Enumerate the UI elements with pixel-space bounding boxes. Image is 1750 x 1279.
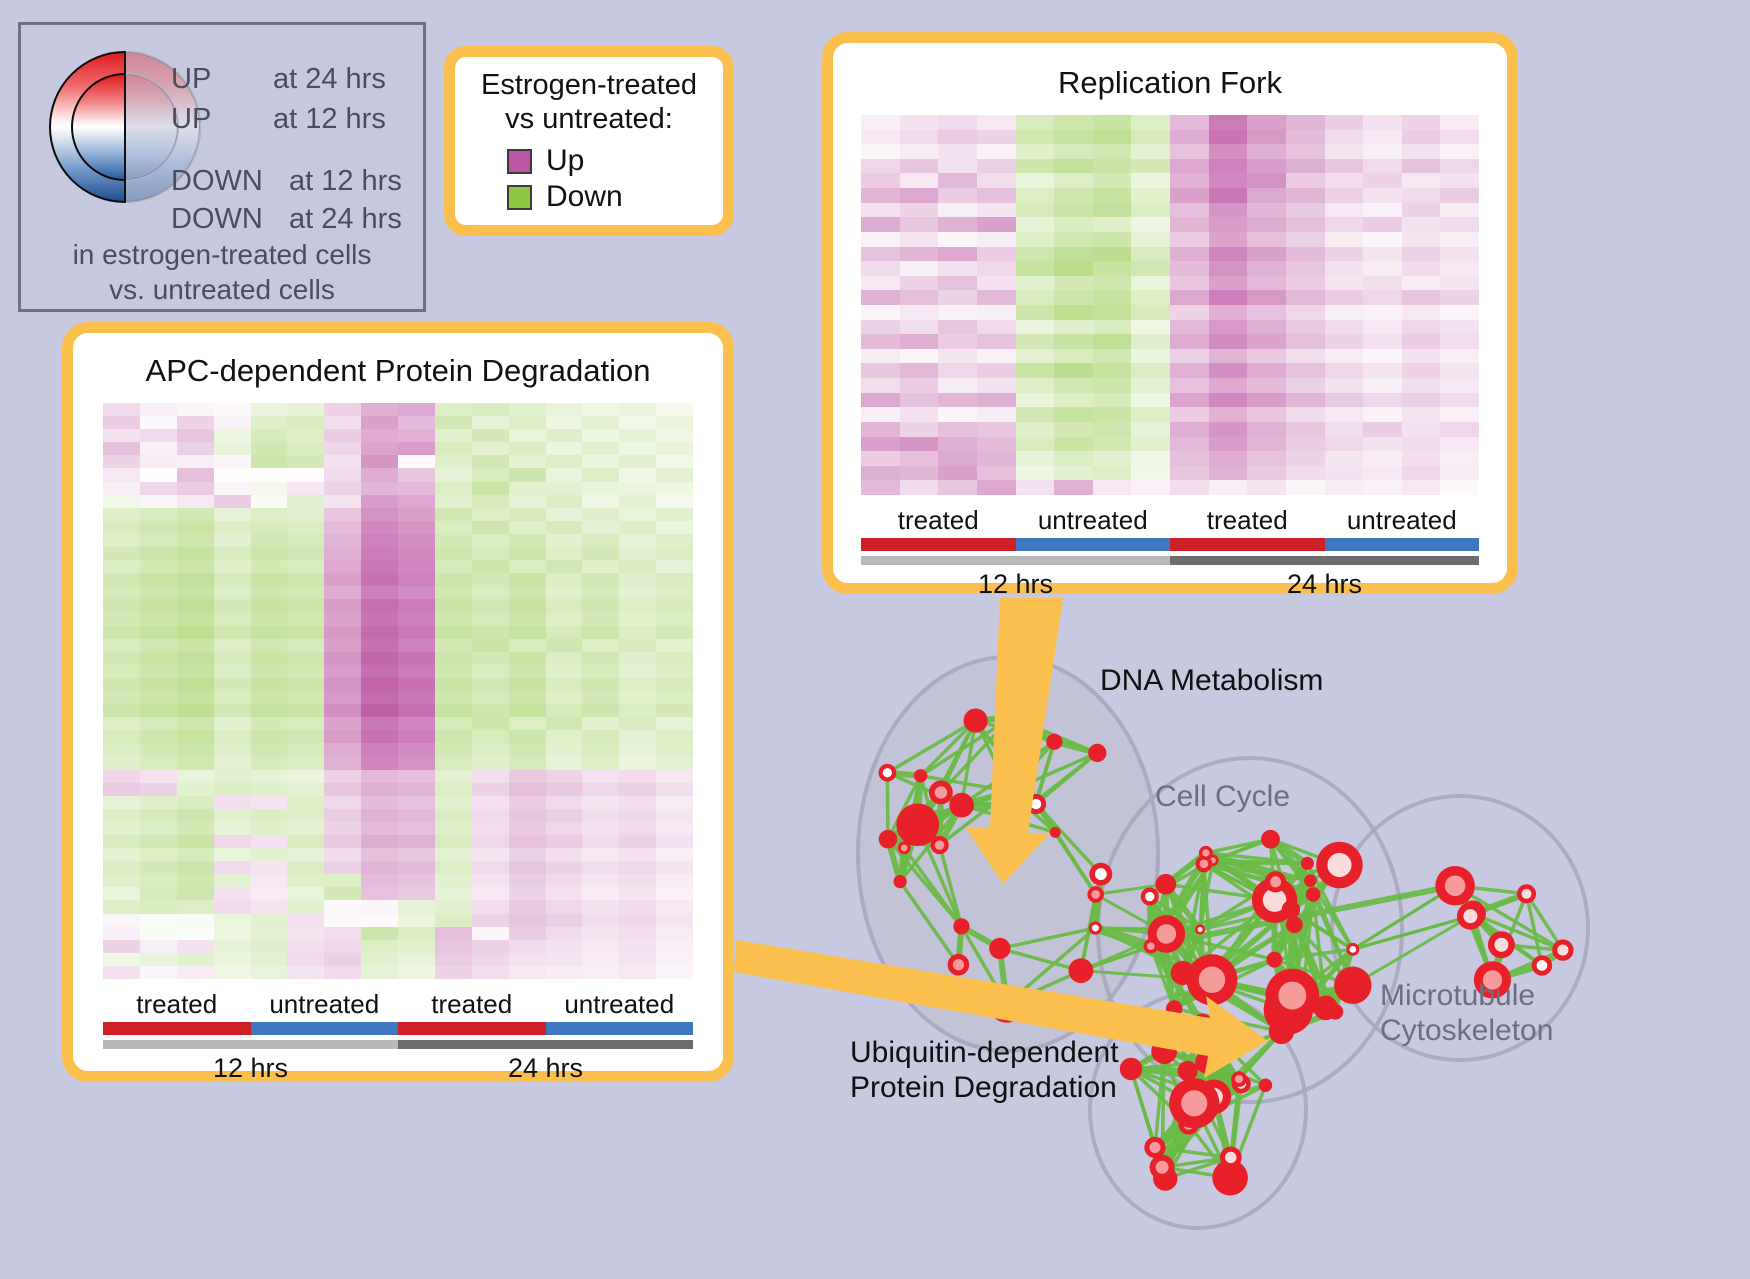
heatmap-cell — [1209, 290, 1248, 305]
heatmap-cell — [656, 704, 693, 717]
heatmap-cell — [177, 495, 214, 508]
heatmap-cell — [656, 521, 693, 534]
heatmap-cell — [582, 586, 619, 599]
network-node-core — [1181, 1090, 1207, 1116]
heatmap-cell — [582, 652, 619, 665]
heatmap-cell — [1170, 261, 1209, 276]
heatmap-cell — [398, 770, 435, 783]
heatmap-cell — [1440, 480, 1479, 495]
heatmap-cell — [509, 547, 546, 560]
heatmap-cell — [1402, 451, 1441, 466]
replication-fork-treatment-bar — [861, 538, 1479, 551]
heatmap-cell — [1016, 203, 1055, 218]
heatmap-cell — [1440, 378, 1479, 393]
legend-item-down-label: Down — [546, 180, 623, 214]
heatmap-cell — [582, 848, 619, 861]
heatmap-cell — [582, 612, 619, 625]
heatmap-cell — [1325, 363, 1364, 378]
heatmap-cell — [938, 407, 977, 422]
heatmap-cell — [103, 940, 140, 953]
heatmap-cell — [977, 393, 1016, 408]
panel-replication-fork-title: Replication Fork — [833, 65, 1507, 101]
heatmap-cell — [656, 822, 693, 835]
heatmap-cell — [435, 914, 472, 927]
heatmap-cell — [398, 416, 435, 429]
heatmap-cell — [472, 848, 509, 861]
heatmap-cell — [509, 626, 546, 639]
heatmap-cell — [435, 573, 472, 586]
heatmap-cell — [1325, 334, 1364, 349]
heatmap-cell — [1016, 349, 1055, 364]
heatmap-cell — [398, 599, 435, 612]
heatmap-cell — [472, 678, 509, 691]
heatmap-cell — [361, 770, 398, 783]
heatmap-cell — [435, 429, 472, 442]
heatmap-cell — [619, 482, 656, 495]
heatmap-cell — [1131, 203, 1170, 218]
heatmap-cell — [177, 887, 214, 900]
heatmap-cell — [287, 586, 324, 599]
heatmap-cell — [582, 455, 619, 468]
heatmap-cell — [251, 796, 288, 809]
heatmap-cell — [324, 770, 361, 783]
heatmap-cell — [435, 678, 472, 691]
heatmap-cell — [1402, 349, 1441, 364]
network-node[interactable] — [1286, 916, 1303, 933]
heatmap-cell — [324, 678, 361, 691]
network-node[interactable] — [914, 769, 927, 782]
heatmap-cell — [1131, 276, 1170, 291]
heatmap-cell — [472, 874, 509, 887]
network-node[interactable] — [1269, 1019, 1294, 1044]
heatmap-cell — [1093, 144, 1132, 159]
heatmap-cell — [619, 691, 656, 704]
heatmap-cell — [140, 665, 177, 678]
heatmap-cell — [861, 378, 900, 393]
network-node[interactable] — [1266, 952, 1282, 968]
heatmap-cell — [251, 678, 288, 691]
heatmap-cell — [214, 586, 251, 599]
heatmap-cell — [861, 144, 900, 159]
heatmap-cell — [1402, 261, 1441, 276]
heatmap-cell — [656, 652, 693, 665]
heatmap-cell — [656, 927, 693, 940]
heatmap-cell — [1363, 480, 1402, 495]
heatmap-cell — [435, 547, 472, 560]
heatmap-cell — [546, 547, 583, 560]
heatmap-cell — [1325, 378, 1364, 393]
network-svg — [780, 610, 1750, 1279]
heatmap-cell — [938, 276, 977, 291]
heatmap-cell — [361, 874, 398, 887]
heatmap-cell — [1286, 334, 1325, 349]
heatmap-cell — [509, 534, 546, 547]
heatmap-cell — [140, 704, 177, 717]
heatmap-cell — [1093, 188, 1132, 203]
heatmap-cell — [619, 560, 656, 573]
heatmap-cell — [103, 783, 140, 796]
heatmap-cell — [582, 534, 619, 547]
network-node-core — [1278, 982, 1306, 1010]
heatmap-cell — [1170, 451, 1209, 466]
network-node[interactable] — [1050, 827, 1061, 838]
heatmap-cell — [435, 940, 472, 953]
heatmap-cell — [546, 966, 583, 979]
network-node-core — [1202, 849, 1209, 856]
heatmap-cell — [435, 770, 472, 783]
heatmap-cell — [509, 874, 546, 887]
heatmap-cell — [287, 665, 324, 678]
network-node[interactable] — [1155, 874, 1176, 895]
network-node-core — [901, 845, 908, 852]
heatmap-cell — [1054, 290, 1093, 305]
heatmap-cell — [1131, 466, 1170, 481]
heatmap-cell — [619, 927, 656, 940]
network-node[interactable] — [1088, 744, 1106, 762]
heatmap-cell — [1325, 232, 1364, 247]
heatmap-cell — [546, 416, 583, 429]
heatmap-cell — [398, 547, 435, 560]
heatmap-cell — [509, 887, 546, 900]
heatmap-cell — [1247, 393, 1286, 408]
legend-title-line1: Estrogen-treated — [455, 69, 723, 103]
heatmap-cell — [140, 953, 177, 966]
replication-fork-time-bar — [861, 556, 1479, 565]
heatmap-cell — [1325, 217, 1364, 232]
heatmap-cell — [1209, 334, 1248, 349]
heatmap-cell — [103, 691, 140, 704]
heatmap-cell — [1286, 480, 1325, 495]
heatmap-cell — [1363, 466, 1402, 481]
heatmap-cell — [619, 796, 656, 809]
heatmap-cell — [1440, 261, 1479, 276]
heatmap-cell — [472, 822, 509, 835]
heatmap-cell — [1402, 232, 1441, 247]
heatmap-cell — [398, 966, 435, 979]
heatmap-cell — [582, 560, 619, 573]
heatmap-cell — [324, 521, 361, 534]
heatmap-cell — [177, 547, 214, 560]
heatmap-cell — [251, 835, 288, 848]
heatmap-cell — [435, 521, 472, 534]
network-node[interactable] — [1120, 1058, 1142, 1080]
network-node[interactable] — [989, 938, 1010, 959]
heatmap-cell — [1093, 363, 1132, 378]
heatmap-cell — [1170, 393, 1209, 408]
heatmap-cell — [1016, 393, 1055, 408]
heatmap-cell — [1402, 247, 1441, 262]
heatmap-cell — [1016, 115, 1055, 130]
heatmap-cell — [140, 887, 177, 900]
heatmap-cell — [435, 953, 472, 966]
heatmap-cell — [656, 940, 693, 953]
heatmap-cell — [582, 691, 619, 704]
key-label-down12: DOWN — [171, 165, 263, 198]
heatmap-cell — [546, 835, 583, 848]
heatmap-cell — [1247, 407, 1286, 422]
heatmap-cell — [546, 455, 583, 468]
heatmap-cell — [1093, 290, 1132, 305]
network-node[interactable] — [1261, 830, 1280, 849]
network-node-core — [1091, 890, 1100, 899]
heatmap-cell — [251, 887, 288, 900]
heatmap-cell — [472, 940, 509, 953]
heatmap-cell — [287, 626, 324, 639]
heatmap-cell — [472, 914, 509, 927]
heatmap-cell — [1247, 261, 1286, 276]
heatmap-cell — [1054, 232, 1093, 247]
network-node[interactable] — [896, 803, 939, 846]
heatmap-cell — [287, 730, 324, 743]
heatmap-cell — [1247, 188, 1286, 203]
heatmap-cell — [214, 822, 251, 835]
apc-time-seg-12hrs — [103, 1040, 398, 1049]
heatmap-cell — [1402, 290, 1441, 305]
heatmap-cell — [251, 626, 288, 639]
heatmap-cell — [1286, 232, 1325, 247]
heatmap-cell — [1131, 349, 1170, 364]
heatmap-cell — [900, 363, 939, 378]
heatmap-cell — [938, 261, 977, 276]
heatmap-cell — [1054, 130, 1093, 145]
network-node[interactable] — [1282, 900, 1300, 918]
apc-treatment-seg-untreated-24 — [546, 1022, 694, 1035]
heatmap-cell — [177, 717, 214, 730]
heatmap-cell — [509, 914, 546, 927]
heatmap-cell — [1363, 203, 1402, 218]
heatmap-cell — [1363, 437, 1402, 452]
heatmap-cell — [1440, 159, 1479, 174]
heatmap-cell — [1402, 276, 1441, 291]
heatmap-cell — [582, 403, 619, 416]
heatmap-cell — [140, 940, 177, 953]
replication-fork-condition-label: treated — [861, 505, 1016, 536]
heatmap-cell — [977, 247, 1016, 262]
heatmap-cell — [177, 756, 214, 769]
heatmap-cell — [900, 217, 939, 232]
heatmap-cell — [1209, 261, 1248, 276]
heatmap-cell — [656, 429, 693, 442]
network-node[interactable] — [1301, 857, 1314, 870]
heatmap-cell — [509, 560, 546, 573]
heatmap-cell — [938, 203, 977, 218]
heatmap-cell — [861, 334, 900, 349]
heatmap-cell — [435, 495, 472, 508]
heatmap-cell — [177, 416, 214, 429]
network-node[interactable] — [1151, 1038, 1177, 1064]
heatmap-cell — [1363, 247, 1402, 262]
heatmap-cell — [103, 861, 140, 874]
heatmap-cell — [1247, 349, 1286, 364]
heatmap-cell — [656, 966, 693, 979]
heatmap-cell — [324, 468, 361, 481]
heatmap-cell — [938, 480, 977, 495]
ring-divider — [124, 51, 126, 203]
heatmap-cell — [1440, 393, 1479, 408]
network-node[interactable] — [1046, 734, 1062, 750]
heatmap-cell — [900, 451, 939, 466]
heatmap-cell — [177, 652, 214, 665]
heatmap-cell — [435, 783, 472, 796]
heatmap-cell — [509, 508, 546, 521]
heatmap-cell — [582, 783, 619, 796]
heatmap-cell — [509, 665, 546, 678]
heatmap-cell — [1286, 188, 1325, 203]
network-node[interactable] — [988, 986, 1025, 1023]
heatmap-cell — [103, 822, 140, 835]
heatmap-cell — [1247, 437, 1286, 452]
heatmap-cell — [900, 130, 939, 145]
heatmap-cell — [900, 349, 939, 364]
legend-items: Up Down — [455, 144, 723, 214]
replication-fork-condition-labels: treateduntreatedtreateduntreated — [861, 505, 1479, 536]
heatmap-cell — [361, 678, 398, 691]
heatmap-cell — [1170, 203, 1209, 218]
heatmap-cell — [177, 586, 214, 599]
heatmap-cell — [435, 586, 472, 599]
heatmap-cell — [214, 429, 251, 442]
heatmap-cell — [435, 809, 472, 822]
heatmap-cell — [361, 652, 398, 665]
heatmap-cell — [1286, 261, 1325, 276]
heatmap-cell — [435, 691, 472, 704]
heatmap-cell — [140, 626, 177, 639]
key-label-up12: UP — [171, 103, 211, 136]
network-node[interactable] — [1000, 782, 1019, 801]
network-node[interactable] — [1306, 887, 1321, 902]
network-node[interactable] — [1313, 996, 1338, 1021]
heatmap-cell — [214, 665, 251, 678]
heatmap-cell — [140, 796, 177, 809]
heatmap-cell — [103, 599, 140, 612]
heatmap-cell — [214, 783, 251, 796]
heatmap-cell — [140, 914, 177, 927]
heatmap-cell — [1325, 261, 1364, 276]
network-node[interactable] — [1166, 1000, 1183, 1017]
network-node[interactable] — [1069, 958, 1094, 983]
apc-time-bar — [103, 1040, 693, 1049]
heatmap-cell — [361, 416, 398, 429]
heatmap-cell — [472, 429, 509, 442]
heatmap-cell — [509, 770, 546, 783]
heatmap-cell — [582, 678, 619, 691]
heatmap-cell — [1247, 276, 1286, 291]
heatmap-cell — [472, 756, 509, 769]
heatmap-cell — [900, 466, 939, 481]
heatmap-cell — [509, 521, 546, 534]
heatmap-cell — [251, 495, 288, 508]
network-node-core — [1145, 892, 1154, 901]
heatmap-cell — [140, 547, 177, 560]
heatmap-cell — [1209, 437, 1248, 452]
network-node-core — [1149, 1142, 1160, 1153]
network-node[interactable] — [953, 918, 969, 934]
heatmap-cell — [214, 861, 251, 874]
heatmap-cell — [140, 599, 177, 612]
network-node[interactable] — [949, 793, 974, 818]
heatmap-cell — [1209, 466, 1248, 481]
heatmap-cell — [140, 521, 177, 534]
network-node[interactable] — [893, 875, 906, 888]
heatmap-cell — [287, 573, 324, 586]
heatmap-cell — [103, 665, 140, 678]
heatmap-cell — [861, 173, 900, 188]
heatmap-cell — [619, 914, 656, 927]
heatmap-cell — [1440, 144, 1479, 159]
heatmap-cell — [361, 900, 398, 913]
heatmap-cell — [509, 756, 546, 769]
heatmap-cell — [324, 835, 361, 848]
heatmap-cell — [977, 159, 1016, 174]
heatmap-cell — [361, 756, 398, 769]
heatmap-cell — [1363, 451, 1402, 466]
network-node-core — [1031, 799, 1041, 809]
heatmap-cell — [287, 953, 324, 966]
heatmap-cell — [251, 521, 288, 534]
network-node[interactable] — [1195, 1051, 1218, 1074]
heatmap-cell — [1286, 437, 1325, 452]
network-node[interactable] — [1002, 709, 1020, 727]
heatmap-cell — [938, 393, 977, 408]
heatmap-cell — [1363, 188, 1402, 203]
network-node[interactable] — [964, 708, 988, 732]
heatmap-cell — [1402, 115, 1441, 130]
heatmap-cell — [1131, 393, 1170, 408]
heatmap-cell — [1247, 144, 1286, 159]
heatmap-cell — [1170, 422, 1209, 437]
color-key-note-line2: vs. untreated cells — [21, 272, 423, 307]
heatmap-cell — [1093, 276, 1132, 291]
heatmap-cell — [1247, 232, 1286, 247]
heatmap-cell — [656, 887, 693, 900]
heatmap-cell — [472, 835, 509, 848]
heatmap-cell — [177, 678, 214, 691]
heatmap-cell — [1440, 290, 1479, 305]
network-node[interactable] — [1304, 874, 1317, 887]
heatmap-cell — [214, 534, 251, 547]
treatment-legend-card: Estrogen-treated vs untreated: Up Down — [444, 46, 734, 236]
heatmap-cell — [361, 586, 398, 599]
heatmap-cell — [140, 416, 177, 429]
heatmap-cell — [103, 678, 140, 691]
network-node[interactable] — [1334, 967, 1371, 1004]
heatmap-cell — [472, 416, 509, 429]
apc-time-seg-24hrs — [398, 1040, 693, 1049]
heatmap-cell — [656, 573, 693, 586]
heatmap-cell — [619, 704, 656, 717]
heatmap-cell — [251, 770, 288, 783]
heatmap-cell — [509, 455, 546, 468]
color-key-box: UP at 24 hrs UP at 12 hrs DOWN at 12 hrs… — [18, 22, 426, 312]
heatmap-cell — [472, 639, 509, 652]
network-node[interactable] — [1193, 1014, 1212, 1033]
heatmap-cell — [1016, 437, 1055, 452]
heatmap-cell — [435, 887, 472, 900]
network-node[interactable] — [879, 830, 898, 849]
heatmap-cell — [1209, 203, 1248, 218]
heatmap-cell — [900, 407, 939, 422]
heatmap-cell — [324, 887, 361, 900]
replication-fork-condition-label: untreated — [1325, 505, 1480, 536]
heatmap-cell — [287, 612, 324, 625]
network-node[interactable] — [1178, 1061, 1198, 1081]
heatmap-cell — [103, 914, 140, 927]
heatmap-cell — [900, 144, 939, 159]
network-node[interactable] — [1259, 1079, 1272, 1092]
heatmap-cell — [177, 442, 214, 455]
heatmap-cell — [140, 468, 177, 481]
heatmap-cell — [398, 586, 435, 599]
